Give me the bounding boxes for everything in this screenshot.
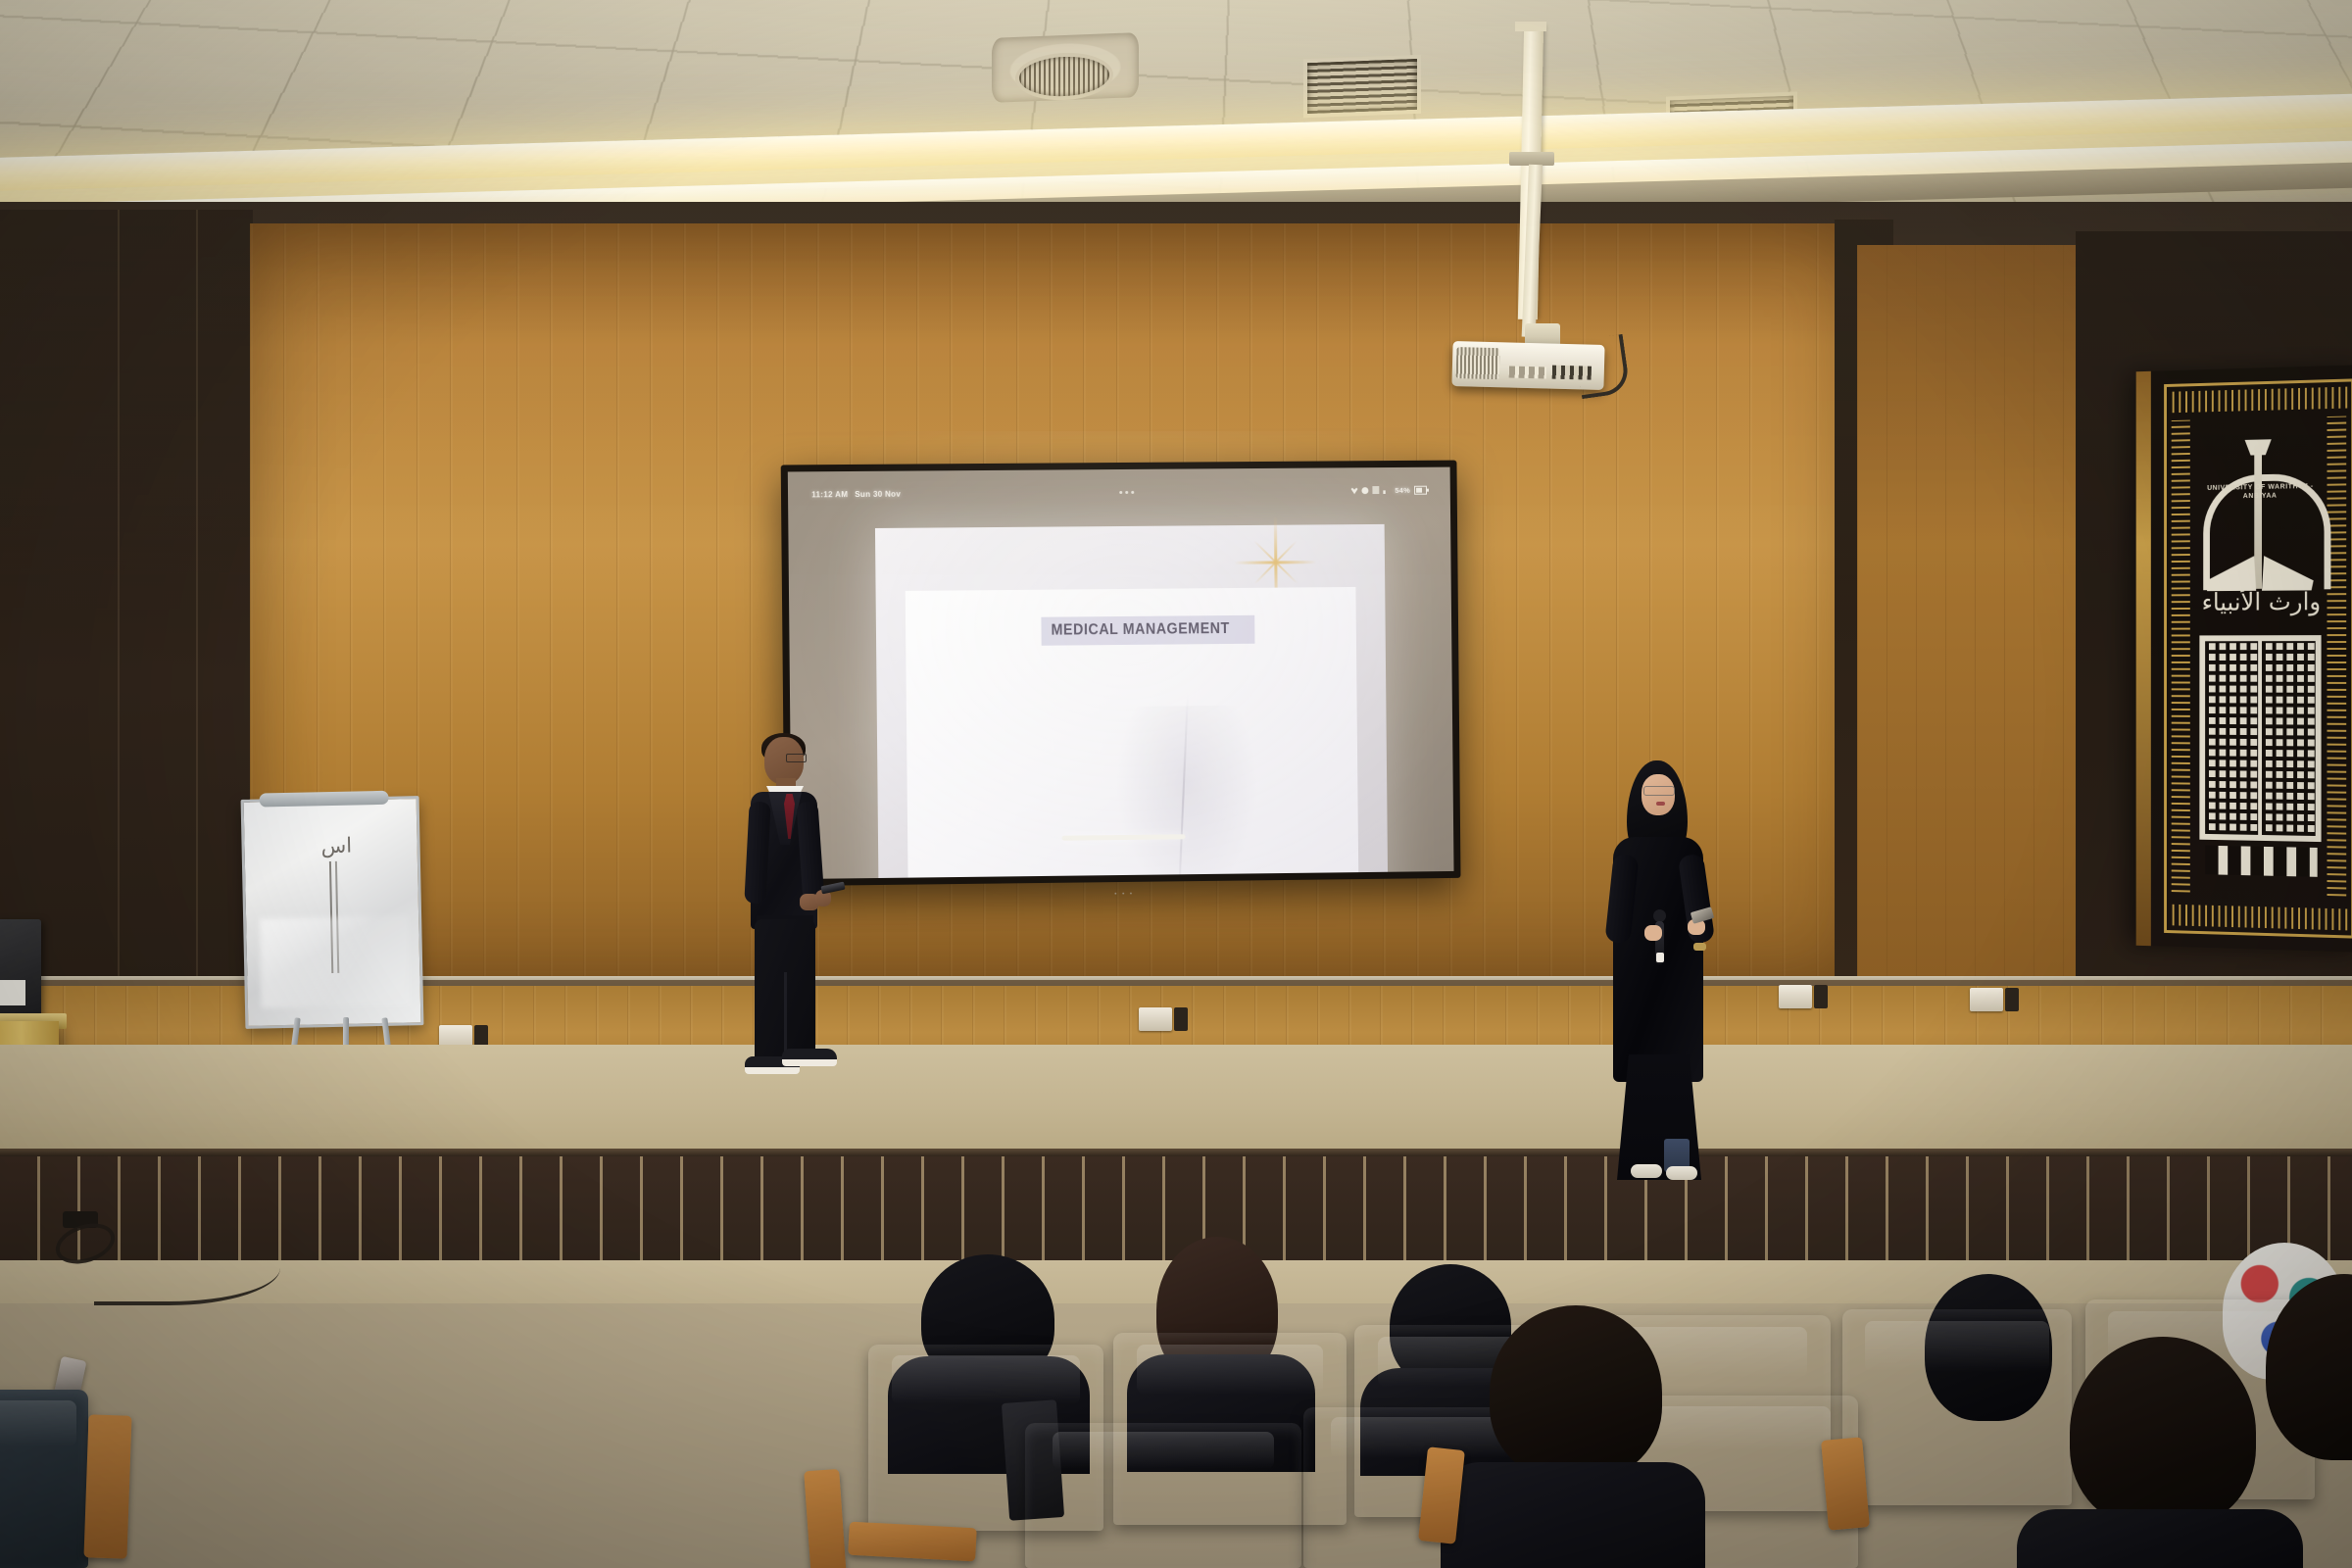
left-dark-wall: [0, 210, 253, 994]
projector-pole-cap: [1515, 22, 1546, 31]
stage-front-panel: [0, 1156, 2352, 1266]
wall-socket-icon: [1779, 985, 1812, 1008]
logo-fret-pattern: [2327, 416, 2346, 902]
kufic-base-blocks: [2205, 846, 2318, 877]
crest-sword: [2254, 443, 2262, 588]
signal-icon: [1383, 486, 1391, 494]
wifi-icon: [1351, 486, 1358, 494]
podium-monitor: [0, 919, 41, 1021]
audience-shoulders: [1441, 1462, 1705, 1568]
wall-socket-icon: [1139, 1007, 1172, 1031]
university-crest-icon: UNIVERSITY OF WARITH AL-ANBIYAA وارث الأ…: [2199, 436, 2321, 622]
auditorium-seat[interactable]: [0, 1390, 88, 1568]
audience-shoulders: [2017, 1509, 2303, 1568]
kufic-cell: [2205, 641, 2258, 835]
glasses-icon: [1643, 786, 1675, 796]
shoe: [782, 1049, 837, 1066]
audience-head: [2070, 1337, 2256, 1529]
presenter-male: [743, 737, 831, 1100]
logo-fret-pattern: [2172, 420, 2190, 898]
auditorium-seat[interactable]: [1025, 1423, 1301, 1568]
shoe: [1631, 1164, 1662, 1178]
auditorium-seat[interactable]: [1842, 1309, 2072, 1505]
status-date: Sun 30 Nov: [855, 489, 901, 498]
lips: [1656, 802, 1665, 806]
slide-title: MEDICAL MANAGEMENT: [1051, 620, 1229, 640]
kufic-calligraphy-panel: [2199, 635, 2321, 842]
stage-deck: [0, 1045, 2352, 1160]
wood-panel-wall-right: [1857, 245, 2082, 990]
flipchart-clamp: [259, 791, 388, 808]
screen-nav-dots: • • •: [1114, 892, 1134, 898]
seat-armrest: [1821, 1437, 1870, 1530]
status-bar-right: 54%: [1351, 485, 1427, 495]
status-time: 11:12 AM: [811, 490, 848, 499]
seat-armrest: [848, 1522, 977, 1562]
board-glare: [260, 915, 410, 1007]
status-bar-center-dots: [1119, 490, 1134, 493]
status-bar-left: 11:12 AM Sun 30 Nov: [811, 489, 901, 499]
presenter-female: [1615, 760, 1713, 1152]
audience-head: [1490, 1305, 1662, 1480]
board-scribble: اس: [320, 834, 352, 859]
slide-title-highlight: MEDICAL MANAGEMENT: [1041, 615, 1254, 646]
glasses-icon: [786, 754, 807, 762]
seat-armrest: [83, 1414, 131, 1558]
stage-front-stripes: [0, 1156, 2352, 1266]
screen-surface: 11:12 AM Sun 30 Nov 54%: [788, 467, 1454, 879]
whiteboard-easel: اس: [241, 796, 424, 1029]
ac-diffuser-icon: [992, 32, 1139, 103]
cast-icon: [1372, 486, 1379, 494]
projector-vent-icon: [1456, 347, 1500, 379]
university-logo-plaque: UNIVERSITY OF WARITH AL-ANBIYAA وارث الأ…: [2136, 365, 2352, 953]
wristwatch: [1693, 943, 1706, 951]
crest-institution-name: UNIVERSITY OF WARITH AL-ANBIYAA: [2202, 481, 2318, 501]
device-status-bar: 11:12 AM Sun 30 Nov 54%: [788, 481, 1450, 504]
kufic-cell: [2262, 641, 2316, 836]
monitor-screen: [0, 980, 25, 1005]
air-vent-icon: [1303, 55, 1421, 119]
slide-faint-graphic: [1112, 706, 1261, 879]
auditorium-scene: 11:12 AM Sun 30 Nov 54%: [0, 0, 2352, 1568]
slide-canvas-outer: MEDICAL MANAGEMENT: [875, 524, 1389, 879]
battery-percent-label: 54%: [1395, 485, 1410, 494]
battery-icon: [1414, 485, 1427, 494]
projector-buttons[interactable]: [1509, 366, 1546, 378]
wall-socket-icon: [1970, 988, 2003, 1011]
shoe: [1666, 1166, 1697, 1180]
projection-screen: 11:12 AM Sun 30 Nov 54%: [781, 461, 1461, 887]
hand: [1644, 925, 1662, 941]
crest-arabic-name: وارث الأنبياء: [2201, 590, 2321, 613]
microphone-button[interactable]: [1656, 953, 1664, 962]
alarm-icon: [1361, 487, 1368, 494]
